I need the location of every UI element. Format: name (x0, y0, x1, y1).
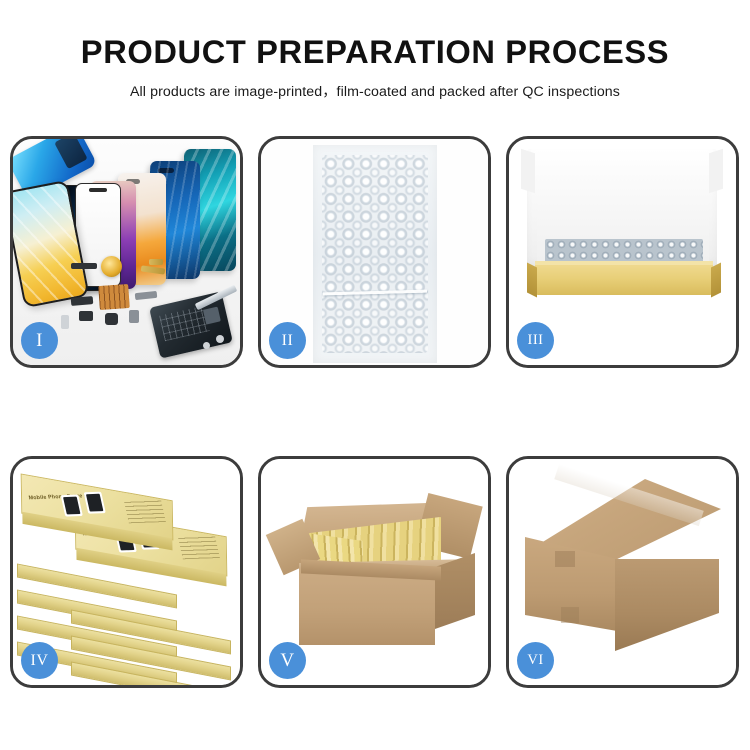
copper-chip-image (98, 284, 130, 310)
carton-seal-mark-1 (555, 551, 575, 567)
part-camera-module (105, 313, 118, 325)
step-badge-5: V (269, 642, 306, 679)
part-screw-1 (216, 335, 224, 343)
step-panel-4: Mobile Phone Spare Parts Mobile Phone Sp… (10, 456, 243, 688)
stacked-box-labeled-1: Mobile Phone Spare Parts (21, 473, 174, 540)
part-sim-tray (61, 315, 69, 329)
step-panel-1: I (10, 136, 243, 368)
stacked-boxes-image: Mobile Phone Spare Parts Mobile Phone Sp… (15, 481, 240, 671)
part-speaker-mesh (71, 263, 97, 269)
header: PRODUCT PREPARATION PROCESS All products… (0, 0, 750, 101)
step-panel-3: III (506, 136, 739, 368)
page-title: PRODUCT PREPARATION PROCESS (0, 36, 750, 70)
mailer-box-base-image (535, 265, 713, 295)
step-badge-1: I (21, 322, 58, 359)
box-spec-lines-2 (178, 536, 220, 560)
step-badge-4: IV (21, 642, 58, 679)
step-badge-2: II (269, 322, 306, 359)
page-subtitle: All products are image-printed，film-coat… (0, 81, 750, 101)
process-steps-grid: I II III (10, 136, 740, 688)
step-badge-6: VI (517, 642, 554, 679)
part-flex-cable-2 (149, 259, 163, 265)
step-panel-6: VI (506, 456, 739, 688)
carton-seal-mark-2 (561, 607, 579, 623)
step-panel-2: II (258, 136, 491, 368)
part-screw-2 (203, 342, 210, 349)
part-vibrator (129, 310, 139, 323)
bubble-wrap-bubbles-back (322, 155, 428, 353)
box-screen-artwork-1 (60, 491, 116, 515)
product-preparation-infographic: PRODUCT PREPARATION PROCESS All products… (0, 0, 750, 750)
box-spec-lines-1 (124, 500, 166, 524)
part-button-1 (79, 311, 93, 321)
step-badge-3: III (517, 322, 554, 359)
gold-coil-image (101, 256, 122, 277)
step-panel-5: V (258, 456, 491, 688)
